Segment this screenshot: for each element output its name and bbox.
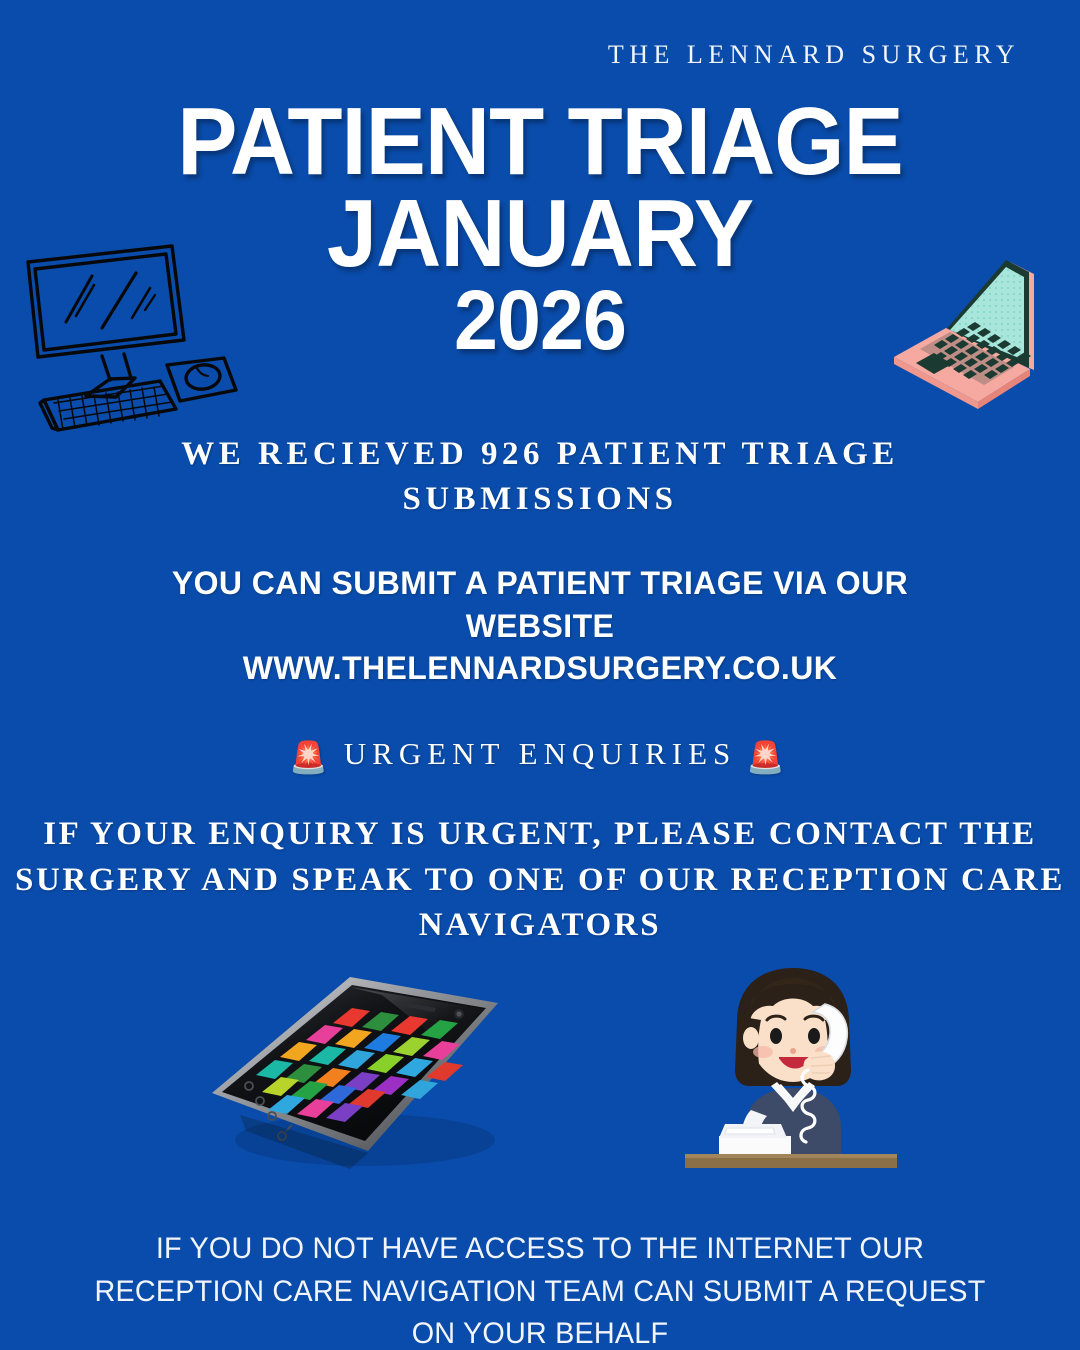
- title-line-3: 2026: [32, 280, 1047, 361]
- submissions-stat: WE RECIEVED 926 PATIENT TRIAGE SUBMISSIO…: [140, 432, 940, 521]
- title-line-2: JANUARY: [32, 188, 1047, 280]
- siren-light-icon-right: 🚨: [746, 739, 791, 776]
- website-url[interactable]: WWW.THELENNARDSURGERY.CO.UK: [100, 647, 980, 690]
- urgent-body-text: IF YOUR ENQUIRY IS URGENT, PLEASE CONTAC…: [10, 812, 1070, 949]
- title-line-1: PATIENT TRIAGE: [32, 96, 1047, 188]
- brand-title: THE LENNARD SURGERY: [608, 40, 1020, 70]
- footer-note: IF YOU DO NOT HAVE ACCESS TO THE INTERNE…: [79, 1228, 1001, 1350]
- urgent-heading: 🚨URGENT ENQUIRIES🚨: [0, 736, 1080, 776]
- smartphone-illustration: [200, 965, 520, 1180]
- poster-root: THE LENNARD SURGERY PATIENT TRIAGE JANUA…: [0, 0, 1080, 1350]
- urgent-heading-label: URGENT ENQUIRIES: [344, 736, 737, 771]
- siren-light-icon-left: 🚨: [289, 739, 334, 776]
- receptionist-on-phone-illustration: [675, 960, 910, 1175]
- website-instruction: YOU CAN SUBMIT A PATIENT TRIAGE VIA OUR …: [172, 565, 908, 644]
- page-title: PATIENT TRIAGE JANUARY 2026: [0, 96, 1080, 361]
- website-block: YOU CAN SUBMIT A PATIENT TRIAGE VIA OUR …: [100, 562, 980, 690]
